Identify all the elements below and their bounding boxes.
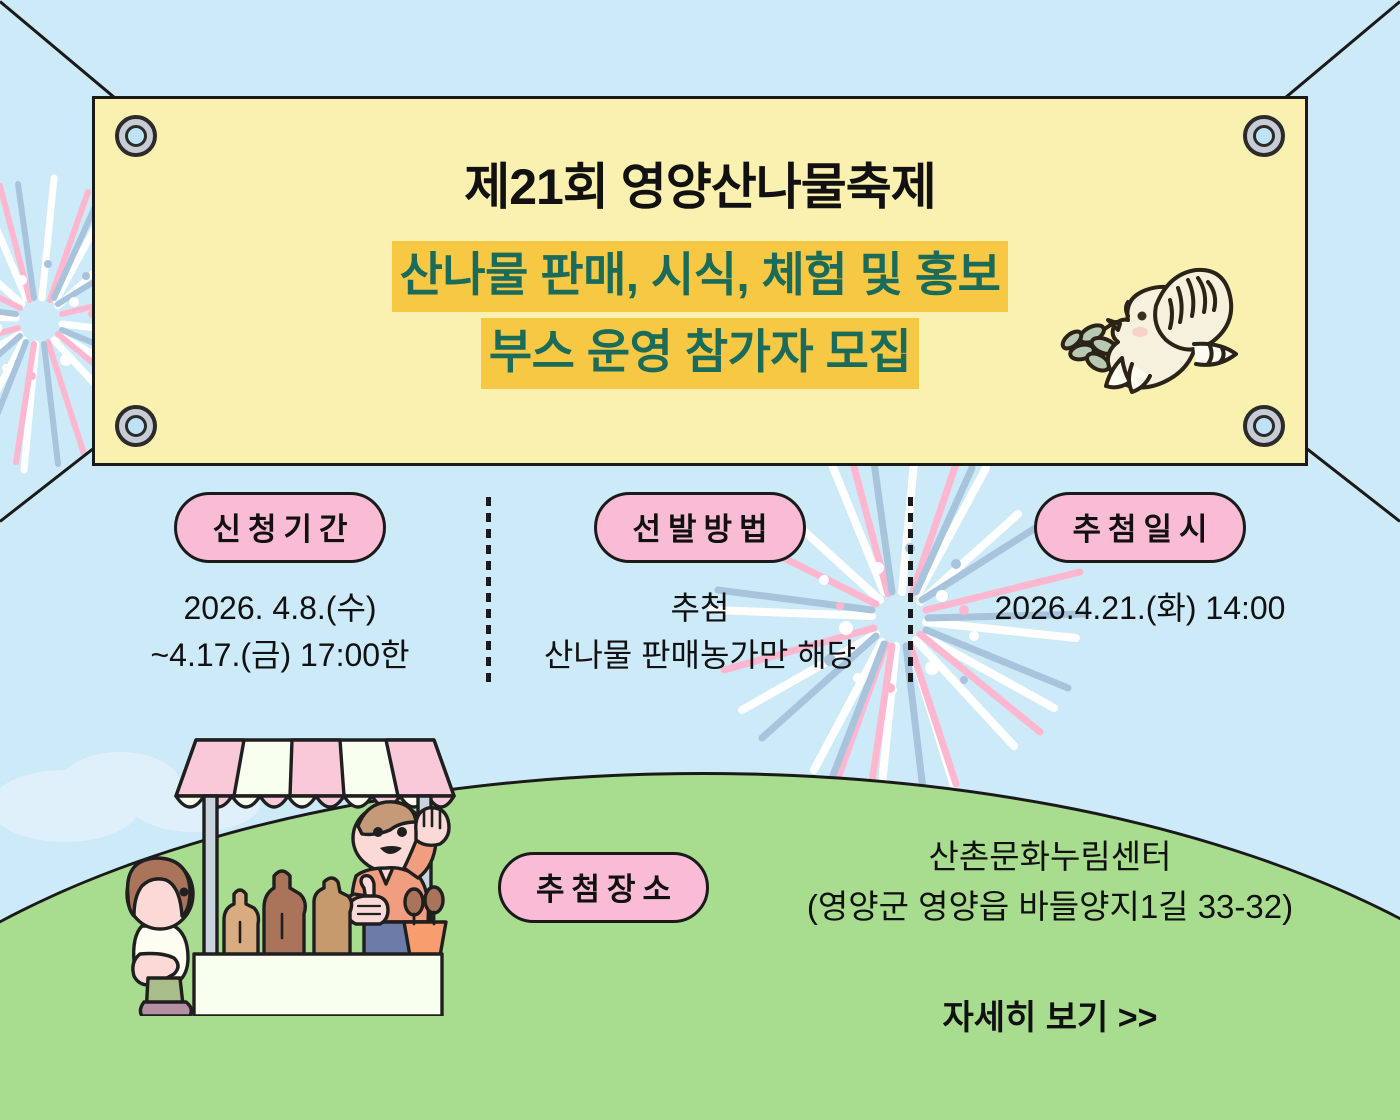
venue-details: 산촌문화누림센터 (영양군 영양읍 바들양지1길 33-32) [730,832,1370,931]
draw-datetime-line-1: 2026.4.21.(화) 14:00 [920,585,1360,632]
application-period-line-2: ~4.17.(금) 17:00한 [70,632,490,679]
label-selection-method: 선발방법 [594,492,805,563]
dove-illustration [1058,262,1248,417]
column-divider [908,497,913,683]
selection-method-body: 추첨 산나물 판매농가만 해당 [500,585,900,680]
festival-title: 제21회 영양산나물축제 [95,147,1305,219]
festival-poster: 제21회 영양산나물축제 산나물 판매, 시식, 체험 및 홍보 부스 운영 참… [0,0,1400,1120]
venue-address: (영양군 영양읍 바들양지1길 33-32) [730,882,1370,932]
market-stall-icon [118,726,478,1016]
draw-datetime-body: 2026.4.21.(화) 14:00 [920,585,1360,632]
grommet-icon [115,405,157,447]
dove-icon [1058,262,1248,412]
selection-method-line-2: 산나물 판매농가만 해당 [500,632,900,679]
application-period-body: 2026. 4.8.(수) ~4.17.(금) 17:00한 [70,585,490,680]
selection-method-line-1: 추첨 [500,585,900,632]
venue-pill-text: 추첨장소 [498,852,709,923]
info-column-draw-datetime: 추첨일시 2026.4.21.(화) 14:00 [920,492,1360,632]
application-period-line-1: 2026. 4.8.(수) [70,585,490,632]
market-stall-illustration [118,726,478,1021]
info-column-application-period: 신청기간 2026. 4.8.(수) ~4.17.(금) 17:00한 [70,492,490,680]
label-application-period: 신청기간 [174,492,385,563]
subtitle-line-1: 산나물 판매, 시식, 체험 및 홍보 [392,241,1009,312]
venue-name: 산촌문화누림센터 [730,832,1370,882]
grommet-icon [1243,405,1285,447]
info-column-selection-method: 선발방법 추첨 산나물 판매농가만 해당 [500,492,900,680]
subtitle-line-2: 부스 운영 참가자 모집 [481,318,919,389]
more-details-link[interactable]: 자세히 보기 >> [730,990,1370,1039]
label-draw-datetime: 추첨일시 [1034,492,1245,563]
label-venue: 추첨장소 [498,852,709,923]
